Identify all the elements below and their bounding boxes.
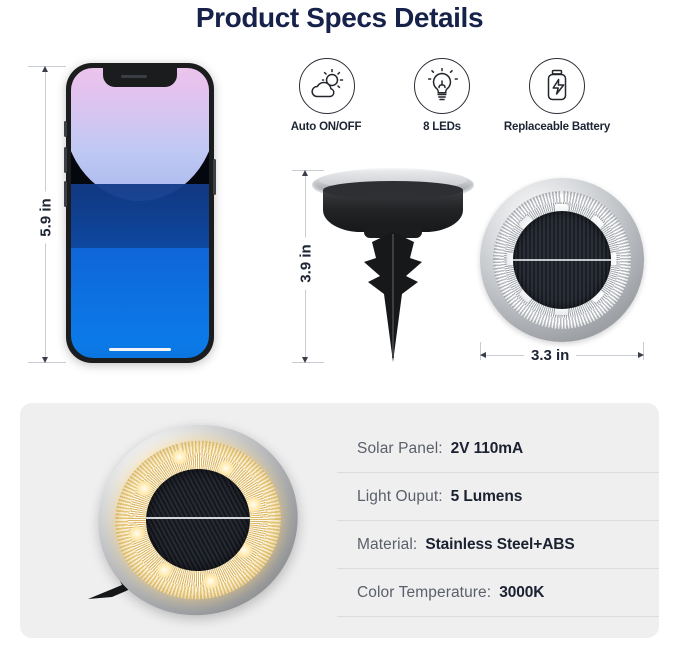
- wallpaper-arc-top: [71, 68, 209, 201]
- dimension-arrow-up-light: [302, 170, 308, 176]
- feature-label: 8 LEDs: [387, 121, 497, 133]
- spec-row: Light Ouput: 5 Lumens: [337, 473, 659, 521]
- dimension-arrow-down-phone: [42, 357, 48, 363]
- spec-row: Solar Panel: 2V 110mA: [337, 425, 659, 473]
- feature-label: Replaceable Battery: [502, 121, 612, 133]
- battery-bolt-icon: [529, 58, 585, 114]
- dimension-arrow-down-light: [302, 357, 308, 363]
- light-bulb-icon: [414, 58, 470, 114]
- feature-8-leds: 8 LEDs: [387, 58, 497, 133]
- illuminated-light-photo: [76, 419, 324, 619]
- spec-value: 3000K: [499, 584, 544, 602]
- phone-silence-switch: [64, 121, 67, 137]
- feature-auto-on-off: Auto ON/OFF: [272, 58, 382, 133]
- spec-value: 5 Lumens: [451, 488, 523, 506]
- spec-label: Light Ouput:: [357, 488, 443, 506]
- solar-panel: [513, 211, 611, 309]
- feature-replaceable-battery: Replaceable Battery: [502, 58, 612, 133]
- wallpaper-arc-bottom: [71, 248, 209, 358]
- spec-label: Color Temperature:: [357, 584, 491, 602]
- spec-row: Material: Stainless Steel+ABS: [337, 521, 659, 569]
- spec-panel: Solar Panel: 2V 110mA Light Ouput: 5 Lum…: [20, 403, 659, 638]
- phone-volume-down-button: [64, 181, 67, 207]
- dimension-label-phone-height: 5.9 in: [35, 192, 58, 244]
- page-title: Product Specs Details: [0, 2, 679, 34]
- phone-power-button: [213, 159, 216, 195]
- phone-home-indicator: [109, 348, 171, 352]
- phone-screen: [71, 68, 209, 358]
- phone-size-reference: [66, 63, 214, 363]
- spec-label: Material:: [357, 536, 417, 554]
- spec-label: Solar Panel:: [357, 440, 443, 458]
- phone-notch: [103, 68, 177, 87]
- ground-stake: [352, 232, 434, 362]
- feature-list: Auto ON/OFF 8 LEDs Replaceable Battery: [272, 58, 612, 133]
- spec-value: Stainless Steel+ABS: [425, 536, 574, 554]
- dimension-cap-bottom-light: [292, 362, 324, 363]
- cloud-sun-icon: [299, 58, 355, 114]
- spec-row: Color Temperature: 3000K: [337, 569, 659, 617]
- dimension-arrow-up-phone: [42, 66, 48, 72]
- spec-table: Solar Panel: 2V 110mA Light Ouput: 5 Lum…: [337, 425, 659, 617]
- dimension-label-diameter: 3.3 in: [524, 347, 576, 364]
- dimension-cap-top-light: [292, 170, 324, 171]
- dimension-arrow-right-diameter: [638, 352, 644, 358]
- feature-label: Auto ON/OFF: [270, 121, 382, 133]
- dimension-label-light-height: 3.9 in: [295, 238, 318, 290]
- ground-light-side-view: [312, 168, 474, 364]
- ground-light-top-view: [480, 178, 644, 342]
- spec-value: 2V 110mA: [451, 440, 523, 458]
- dimension-arrow-left-diameter: [480, 352, 486, 358]
- phone-volume-up-button: [64, 147, 67, 173]
